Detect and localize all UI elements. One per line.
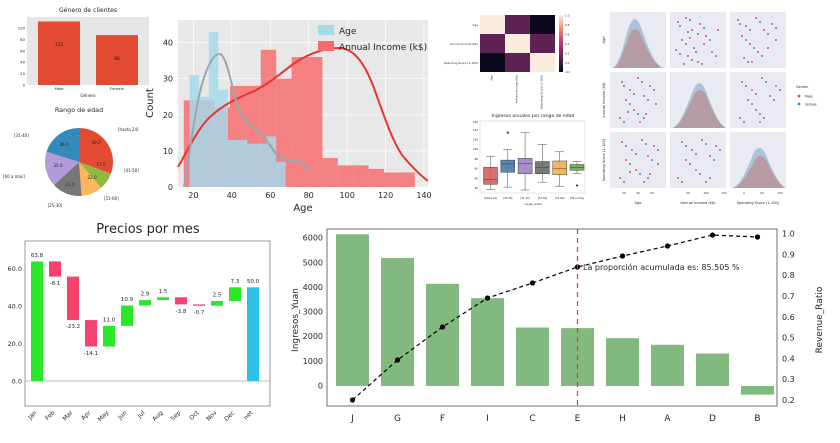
svg-text:Aug: Aug: [151, 409, 164, 422]
y-axis-right-label: Revenue_Ratio: [815, 286, 825, 353]
svg-text:Sep: Sep: [169, 409, 182, 422]
svg-text:10.9: 10.9: [121, 297, 134, 303]
svg-text:140: 140: [473, 128, 478, 132]
bar-feb: [49, 261, 61, 276]
svg-text:May: May: [97, 409, 111, 423]
svg-text:Spending Score (1-100): Spending Score (1-100): [737, 201, 780, 205]
svg-text:J: J: [350, 414, 354, 424]
svg-text:1000: 1000: [303, 357, 323, 366]
svg-text:80: 80: [20, 37, 25, 42]
age-range-pie-panel: Rango de edad 40.0 17.0 22.0 27.0 35.0 3…: [0, 100, 158, 210]
box-25-30: [501, 132, 515, 187]
y-axis-label: Count: [145, 88, 156, 118]
svg-text:40: 40: [475, 176, 479, 180]
svg-text:60: 60: [265, 191, 275, 200]
age-range-pie-chart: Rango de edad 40.0 17.0 22.0 27.0 35.0 3…: [0, 100, 158, 210]
svg-text:60: 60: [20, 48, 25, 53]
legend-label-income: Annual Income (k$): [339, 43, 427, 53]
svg-text:2.5: 2.5: [213, 293, 222, 299]
bar-aug: [157, 297, 169, 300]
svg-text:0.6: 0.6: [565, 33, 570, 37]
bar-net: [247, 287, 259, 381]
bar-F: [426, 284, 459, 386]
svg-text:1.0: 1.0: [565, 14, 570, 18]
svg-text:-14.1: -14.1: [84, 351, 98, 357]
legend-label-age: Age: [339, 27, 357, 37]
svg-text:D: D: [709, 414, 716, 424]
svg-text:0.2: 0.2: [782, 396, 795, 405]
bar-D: [696, 354, 729, 387]
y-axis-ticks: 0 20 40 60 80 100: [18, 26, 26, 88]
legend-marker-female: [798, 103, 801, 106]
heatmap-cells: [480, 15, 555, 72]
svg-text:35.0: 35.0: [53, 163, 63, 168]
x-tick-male: Male: [55, 86, 65, 91]
bar-male: [38, 22, 80, 86]
svg-text:Spending Score (1-100): Spending Score (1-100): [444, 61, 478, 65]
svg-text:[60 a más]: [60 a más]: [570, 196, 584, 200]
svg-text:10: 10: [163, 147, 173, 156]
age-income-histogram: 0 10 20 30 40 20 40 60 80 100 120 140 Ag…: [140, 0, 455, 215]
svg-text:Feb: Feb: [44, 409, 57, 422]
waterfall-bars: [31, 261, 259, 381]
svg-text:11.0: 11.0: [103, 318, 116, 324]
box-hasta-24: [484, 157, 498, 190]
svg-text:80: 80: [304, 191, 314, 200]
svg-text:Annual Income (k$): Annual Income (k$): [450, 42, 478, 46]
svg-text:[hasta 24]: [hasta 24]: [484, 196, 497, 200]
x-axis-label: Género: [80, 93, 96, 98]
svg-text:-0.2: -0.2: [565, 70, 571, 74]
bar-value-female: 88: [114, 56, 120, 62]
x-axis-ticks: J G F I C E H A D B: [350, 414, 760, 424]
svg-text:0.4: 0.4: [782, 354, 795, 363]
pairplot-panel: 20 40 60 50 100 150 0 50 100 Age Annual …: [600, 0, 840, 215]
svg-text:0: 0: [168, 183, 173, 192]
svg-text:-8.1: -8.1: [50, 281, 61, 287]
svg-text:5000: 5000: [303, 258, 323, 267]
svg-text:100: 100: [18, 26, 26, 31]
svg-text:[31-40]: [31-40]: [520, 196, 529, 200]
correlation-heatmap-panel: Age Annual Income (k$) Spending Score (1…: [455, 0, 605, 105]
svg-text:40: 40: [163, 39, 173, 48]
svg-text:[51-60]: [51-60]: [555, 196, 564, 200]
monthly-waterfall-chart: Precios por mes 0.0 20.0 40.0 60.0 63.8: [0, 215, 290, 443]
svg-text:140: 140: [416, 191, 431, 200]
svg-text:F: F: [440, 414, 445, 424]
boxplot-boxes: [484, 132, 585, 190]
svg-text:2000: 2000: [303, 332, 323, 341]
colorbar-ticks: 1.0 0.8 0.6 0.4 0.2 0.0 -0.2: [565, 14, 571, 75]
bar-apr: [85, 320, 97, 346]
legend-label-female: Female: [805, 103, 817, 107]
svg-text:0.6: 0.6: [782, 313, 795, 322]
svg-text:36.0: 36.0: [59, 142, 69, 147]
svg-text:40.0: 40.0: [91, 140, 101, 145]
correlation-heatmap: Age Annual Income (k$) Spending Score (1…: [455, 0, 605, 105]
svg-text:[41-50]: [41-50]: [538, 196, 547, 200]
svg-text:20.0: 20.0: [8, 340, 22, 348]
svg-text:6000: 6000: [303, 234, 323, 243]
svg-text:[60 a más]: [60 a más]: [3, 174, 25, 179]
svg-text:20: 20: [188, 191, 198, 200]
svg-text:150: 150: [721, 191, 726, 195]
svg-text:4000: 4000: [303, 283, 323, 292]
x-axis-label: Age: [293, 203, 312, 214]
svg-text:40: 40: [227, 191, 237, 200]
svg-text:30: 30: [163, 75, 173, 84]
svg-text:A: A: [664, 414, 671, 424]
legend-swatch-income: [318, 41, 334, 51]
bar-J: [336, 234, 369, 386]
svg-text:60: 60: [475, 167, 479, 171]
svg-text:H: H: [619, 414, 626, 424]
svg-text:[25-30]: [25-30]: [48, 203, 63, 208]
legend-swatch-age: [318, 25, 334, 35]
svg-text:I: I: [486, 414, 489, 424]
bar-B: [741, 386, 774, 395]
svg-text:Annual Income (k$): Annual Income (k$): [602, 82, 606, 118]
svg-text:B: B: [754, 414, 760, 424]
svg-text:Mar: Mar: [61, 409, 74, 422]
svg-text:100: 100: [473, 147, 478, 151]
svg-text:0: 0: [23, 83, 26, 88]
svg-text:0.0: 0.0: [12, 378, 22, 386]
bar-oct: [193, 304, 205, 305]
svg-text:0.2: 0.2: [565, 52, 570, 56]
svg-text:27.0: 27.0: [65, 182, 75, 187]
chart-title: Ingresos anuales por rango de edad: [492, 113, 575, 119]
svg-text:Jan: Jan: [26, 409, 38, 421]
svg-text:0.8: 0.8: [782, 271, 795, 280]
bar-G: [381, 258, 414, 386]
age-income-histogram-panel: 0 10 20 30 40 20 40 60 80 100 120 140 Ag…: [140, 0, 455, 215]
svg-text:0.0: 0.0: [565, 61, 570, 65]
svg-text:20: 20: [163, 111, 173, 120]
svg-text:C: C: [529, 414, 535, 424]
y-axis-left-ticks: 0 1000 2000 3000 4000 5000 6000: [303, 234, 323, 391]
svg-text:Apr: Apr: [80, 409, 93, 422]
box-31-40: [518, 133, 532, 190]
pairplot-legend: Gender Male Female: [796, 85, 817, 107]
income-boxplot-panel: Ingresos anuales por rango de edad 20 40…: [455, 105, 605, 215]
svg-text:1.5: 1.5: [159, 289, 168, 295]
svg-text:Age: Age: [635, 201, 643, 205]
gender-bar-chart: Género de clientes 0 20 40 60 80 100 112…: [0, 0, 158, 98]
svg-text:100: 100: [340, 191, 355, 200]
y-axis-ticks: 0.0 20.0 40.0 60.0: [8, 265, 22, 386]
svg-text:0.7: 0.7: [782, 292, 795, 301]
box-51-60: [553, 152, 567, 186]
pairplot-x-ticks: 20 40 60 50 100 150 0 50 100: [622, 191, 783, 195]
svg-text:120: 120: [473, 138, 478, 142]
svg-text:1.0: 1.0: [782, 230, 795, 239]
svg-text:7.3: 7.3: [231, 279, 240, 285]
svg-text:100: 100: [777, 191, 782, 195]
chart-title: Rango de edad: [55, 106, 103, 114]
box-60-mas: [570, 162, 584, 187]
svg-text:[51-60]: [51-60]: [104, 196, 119, 201]
bar-jun: [121, 306, 133, 326]
svg-text:G: G: [394, 414, 401, 424]
box-41-50: [535, 145, 549, 183]
svg-text:100: 100: [703, 191, 708, 195]
svg-text:160: 160: [473, 120, 478, 124]
x-axis-ticks: 20 40 60 80 100 120 140: [188, 191, 431, 200]
bar-may: [103, 326, 115, 347]
bar-mar: [67, 277, 79, 321]
revenue-pareto-panel: La proporción acumulada es: 85.505 % 0 1…: [285, 215, 840, 443]
svg-text:0: 0: [318, 382, 323, 391]
income-boxplot: Ingresos anuales por rango de edad 20 40…: [455, 105, 605, 215]
legend-title: Gender: [796, 85, 809, 89]
svg-text:Age: Age: [490, 75, 494, 81]
svg-text:40: 40: [20, 60, 25, 65]
monthly-waterfall-panel: Precios por mes 0.0 20.0 40.0 60.0 63.8: [0, 215, 290, 443]
svg-text:22.0: 22.0: [87, 175, 97, 180]
x-axis-label: rango_edad: [524, 202, 541, 206]
svg-text:40: 40: [636, 191, 640, 195]
svg-text:Annual Income (k$): Annual Income (k$): [515, 75, 519, 103]
svg-text:[31-40]: [31-40]: [14, 133, 29, 138]
svg-text:17.0: 17.0: [96, 162, 106, 167]
chart-title: Género de clientes: [59, 6, 117, 14]
svg-text:2.9: 2.9: [141, 292, 150, 298]
x-axis-ticks: Jan Feb Mar Apr May Jun Jul Aug Sep Oct …: [26, 409, 255, 423]
svg-text:40.0: 40.0: [8, 303, 22, 311]
svg-text:20: 20: [20, 71, 25, 76]
svg-text:Jun: Jun: [116, 409, 128, 421]
svg-text:50.0: 50.0: [247, 279, 260, 285]
svg-text:[41-50]: [41-50]: [124, 168, 139, 173]
bar-jan: [31, 261, 43, 381]
x-axis-ticks: [hasta 24] [25-30] [31-40] [41-50] [51-6…: [484, 196, 584, 200]
svg-text:0.3: 0.3: [782, 375, 795, 384]
svg-text:20: 20: [475, 186, 479, 190]
y-axis-ticks: 20 40 60 80 100 120 140 160: [473, 120, 478, 190]
svg-text:0.5: 0.5: [782, 334, 795, 343]
bar-value-male: 112: [55, 42, 64, 48]
bar-I: [471, 298, 504, 386]
svg-text:net: net: [242, 409, 254, 421]
pareto-bars: [336, 234, 774, 394]
y-axis-left-label: Ingresos_Yuan: [291, 288, 301, 352]
bar-dec: [229, 287, 241, 301]
svg-text:-23.2: -23.2: [66, 324, 80, 330]
heatmap-colorbar: [559, 15, 563, 72]
svg-text:80: 80: [475, 157, 479, 161]
y-axis-ticks: 0 10 20 30 40: [163, 39, 173, 192]
svg-text:Oct: Oct: [188, 409, 201, 422]
bar-A: [651, 345, 684, 386]
svg-text:60.0: 60.0: [8, 265, 22, 273]
revenue-pareto-chart: La proporción acumulada es: 85.505 % 0 1…: [285, 215, 840, 443]
legend-marker-male: [798, 95, 801, 98]
svg-text:0.8: 0.8: [565, 23, 570, 27]
svg-text:0.4: 0.4: [565, 42, 570, 46]
svg-text:120: 120: [378, 191, 393, 200]
svg-text:60: 60: [650, 191, 654, 195]
svg-text:Age: Age: [602, 36, 606, 44]
svg-text:20: 20: [622, 191, 626, 195]
svg-text:Spending Score (1-100): Spending Score (1-100): [602, 138, 606, 181]
bar-sep: [175, 297, 187, 304]
svg-text:-0.7: -0.7: [194, 310, 205, 316]
bar-jul: [139, 300, 151, 305]
svg-text:50: 50: [686, 191, 690, 195]
svg-text:Age: Age: [472, 23, 478, 27]
svg-text:0.9: 0.9: [782, 250, 795, 259]
svg-text:50: 50: [760, 191, 764, 195]
svg-text:Dec: Dec: [223, 409, 236, 422]
svg-text:Jul: Jul: [136, 409, 147, 420]
bar-H: [606, 338, 639, 386]
svg-text:[hasta 24]: [hasta 24]: [118, 127, 139, 132]
gender-bar-panel: Género de clientes 0 20 40 60 80 100 112…: [0, 0, 158, 98]
bar-C: [516, 328, 549, 387]
chart-title: Precios por mes: [96, 222, 200, 237]
legend-label-male: Male: [805, 95, 813, 99]
svg-text:-3.8: -3.8: [176, 309, 187, 315]
svg-text:3000: 3000: [303, 308, 323, 317]
y-axis-right-ticks: 0.2 0.3 0.4 0.5 0.6 0.7 0.8 0.9 1.0: [782, 230, 795, 405]
svg-text:63.8: 63.8: [31, 253, 44, 259]
pairplot-matrix: 20 40 60 50 100 150 0 50 100 Age Annual …: [600, 0, 840, 215]
svg-text:E: E: [575, 414, 581, 424]
svg-text:Annual Income (k$): Annual Income (k$): [680, 201, 716, 205]
svg-text:0: 0: [743, 191, 745, 195]
bar-nov: [211, 301, 223, 306]
x-tick-female: Female: [110, 86, 124, 91]
svg-text:[25-30]: [25-30]: [503, 196, 512, 200]
svg-text:Nov: Nov: [205, 409, 219, 423]
cumulative-annotation: La proporción acumulada es: 85.505 %: [583, 262, 740, 272]
